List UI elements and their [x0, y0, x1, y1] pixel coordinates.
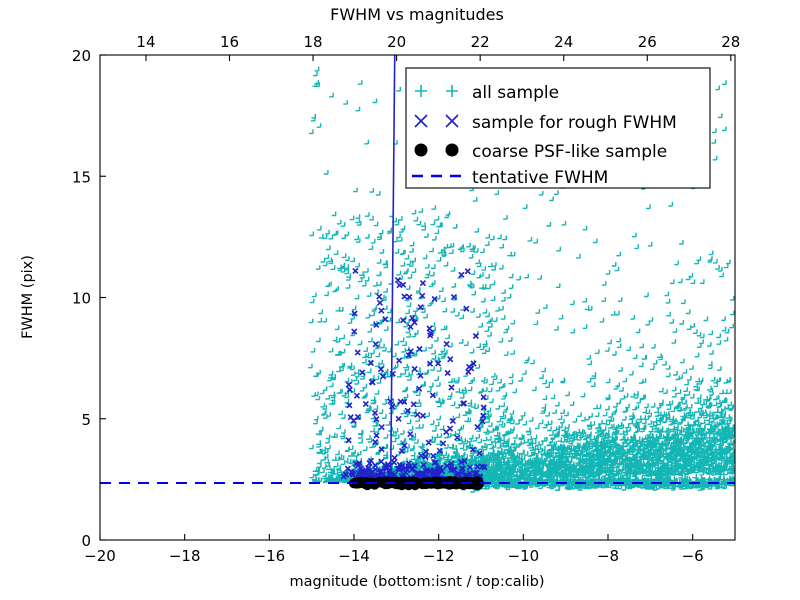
legend-item-label: sample for rough FWHM: [472, 113, 677, 133]
x-axis-bottom-ticks: −20−18−16−14−12−10−8−6: [84, 534, 704, 565]
x-tick-label: −18: [169, 547, 201, 565]
x-axis-label: magnitude (bottom:isnt / top:calib): [289, 574, 544, 590]
x-tick-label-top: 20: [387, 33, 406, 51]
x-tick-label-top: 22: [471, 33, 490, 51]
x-tick-label: −6: [682, 547, 704, 565]
legend[interactable]: all samplesample for rough FWHMcoarse PS…: [406, 68, 710, 188]
x-tick-label: −8: [597, 547, 619, 565]
plot-svg: FWHM vs magnitudes magnitude (bottom:isn…: [0, 0, 800, 600]
legend-item-label: tentative FWHM: [472, 168, 608, 188]
y-tick-label: 5: [81, 411, 91, 429]
legend-item-label: coarse PSF-like sample: [472, 142, 667, 162]
x-tick-label-top: 24: [554, 33, 573, 51]
x-axis-top-ticks: 1416182022242628: [136, 33, 740, 61]
x-tick-label-top: 18: [304, 33, 323, 51]
x-tick-label: −10: [508, 547, 540, 565]
x-tick-label-top: 28: [721, 33, 740, 51]
y-axis-ticks: 05101520: [72, 47, 106, 550]
figure-canvas: FWHM vs magnitudes magnitude (bottom:isn…: [0, 0, 800, 600]
y-tick-label: 10: [72, 290, 91, 308]
x-tick-label-top: 16: [220, 33, 239, 51]
x-tick-label-top: 26: [638, 33, 657, 51]
y-axis-label: FWHM (pix): [20, 255, 36, 339]
y-tick-label: 15: [72, 168, 91, 186]
legend-marker-dot: [415, 144, 428, 157]
x-tick-label: −16: [254, 547, 286, 565]
y-tick-label: 0: [81, 532, 91, 550]
legend-item-label: all sample: [472, 83, 559, 103]
chart-title: FWHM vs magnitudes: [330, 5, 504, 24]
x-tick-label-top: 14: [136, 33, 155, 51]
y-tick-label: 20: [72, 47, 91, 65]
legend-marker-dot: [446, 144, 459, 157]
x-tick-label: −14: [338, 547, 370, 565]
x-tick-label: −12: [423, 547, 455, 565]
